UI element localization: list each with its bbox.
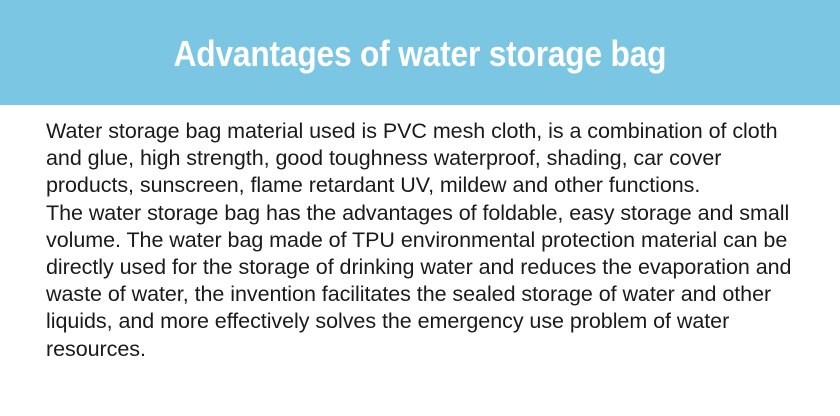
- document-page: Advantages of water storage bag Water st…: [0, 0, 840, 416]
- paragraph-material: Water storage bag material used is PVC m…: [46, 118, 808, 200]
- paragraph-advantages: The water storage bag has the advantages…: [46, 200, 808, 363]
- body-content: Water storage bag material used is PVC m…: [46, 118, 808, 363]
- page-title: Advantages of water storage bag: [174, 36, 667, 72]
- header-banner: Advantages of water storage bag: [0, 0, 840, 105]
